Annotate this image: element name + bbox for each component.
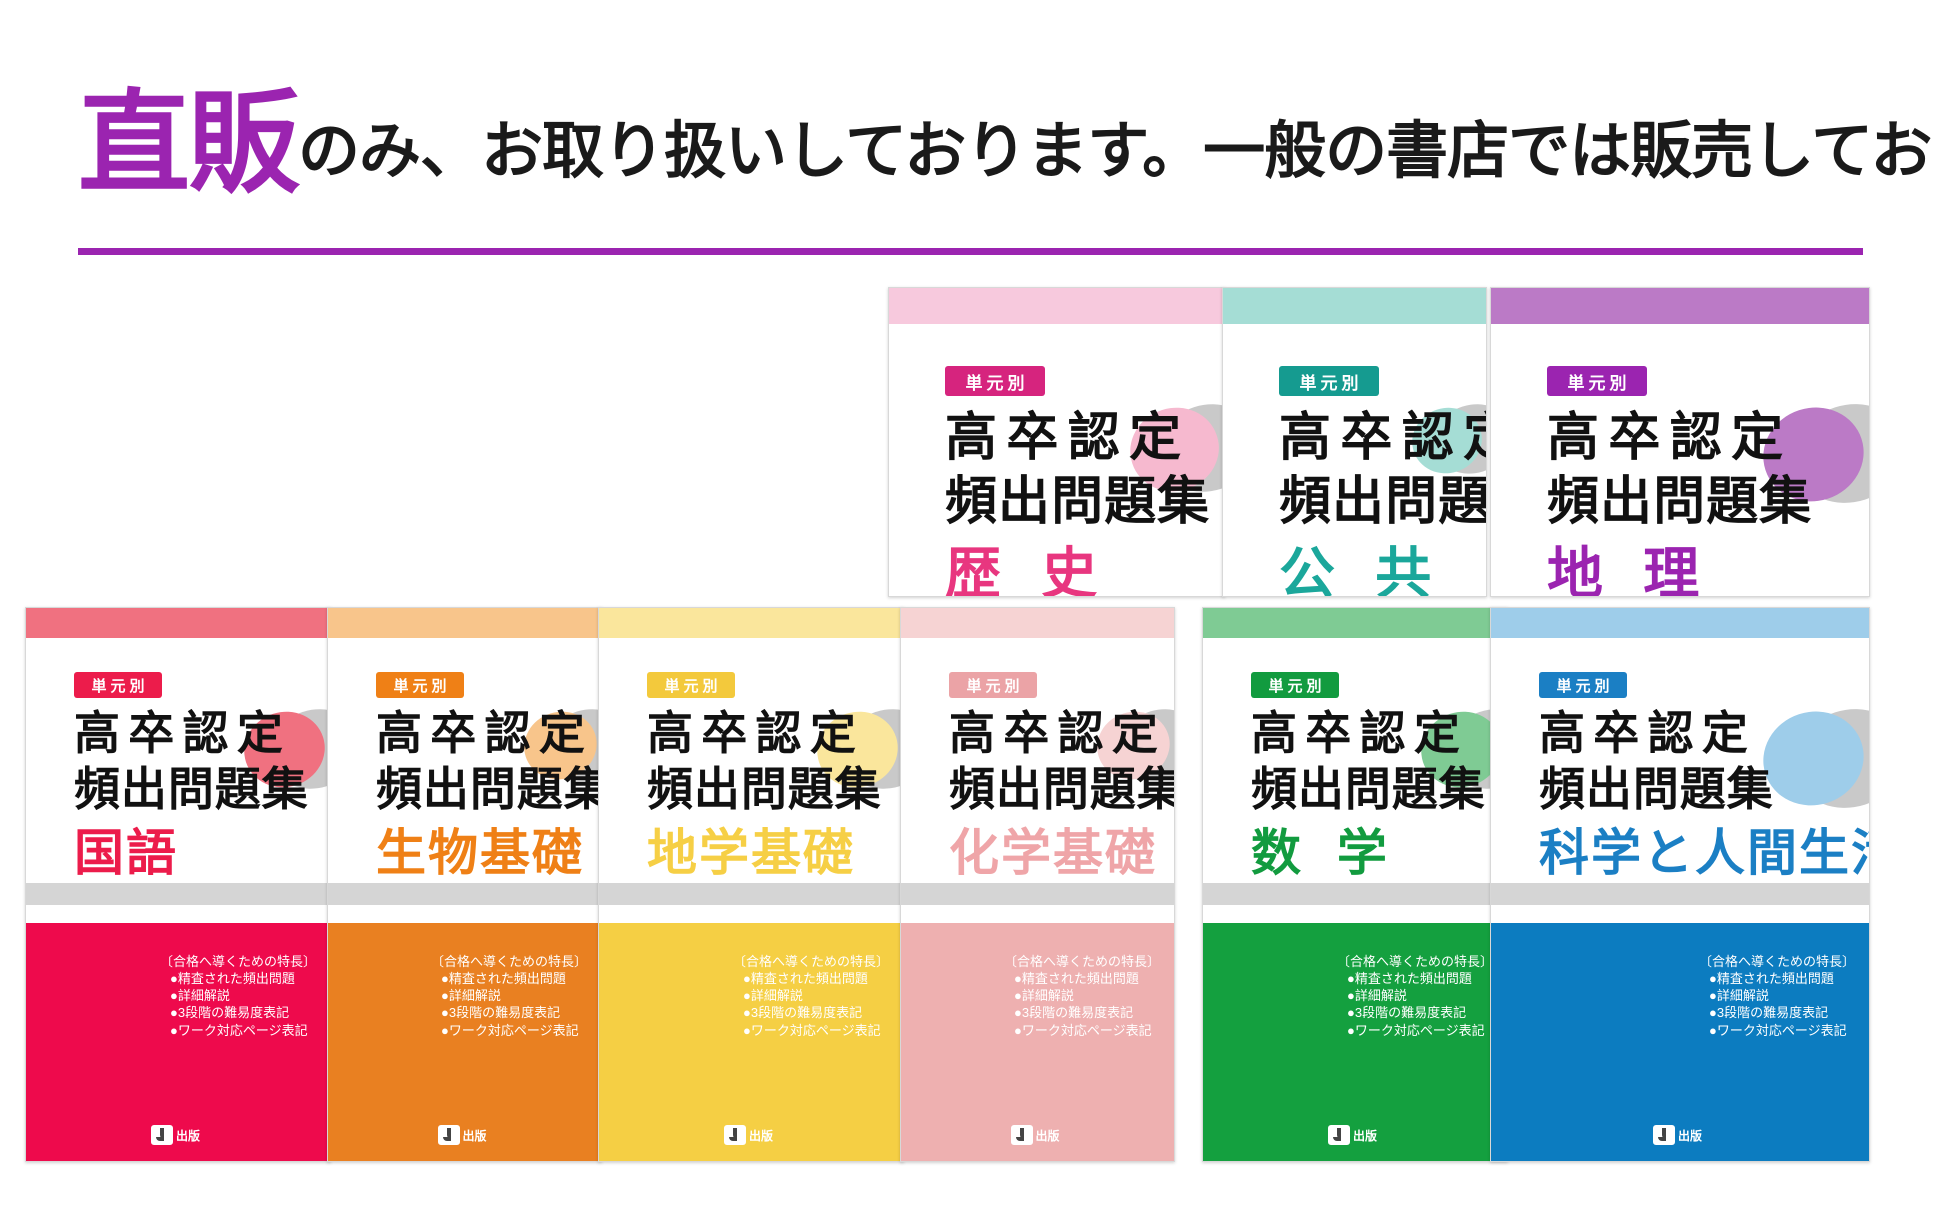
feature-item: ●精査された頻出問題 (170, 970, 316, 987)
book-title-line1: 高卒認定 (949, 710, 1166, 756)
feature-item: ●詳細解説 (1709, 987, 1855, 1004)
book-back-cover: 〔合格へ導くための特長〕●精査された頻出問題●詳細解説●3段階の難易度表記●ワー… (901, 923, 1174, 1162)
j-publishing-mark-icon (1328, 1125, 1350, 1145)
unit-type-badge: 単元別 (949, 672, 1037, 698)
publisher-logo: 出版 (151, 1125, 200, 1145)
publisher-logo-text: 出版 (463, 1127, 487, 1144)
feature-item: ●3段階の難易度表記 (1709, 1004, 1855, 1021)
book-title-line1: 高卒認定 (1251, 710, 1468, 756)
cover-face: 単元別高卒認定頻出問題集国語編/高卒認定受験情報センター・J-出版編集部 (26, 638, 330, 883)
unit-type-badge: 単元別 (1539, 672, 1627, 698)
cover-face: 単元別高卒認定頻出問題集化学基礎編/高卒認定受験情報センター・J-出版編集部 (901, 638, 1174, 883)
feature-list-heading: 〔合格へ導くための特長〕 (1337, 953, 1493, 970)
feature-list: 〔合格へ導くための特長〕●精査された頻出問題●詳細解説●3段階の難易度表記●ワー… (1004, 953, 1160, 1039)
publisher-logo: 出版 (438, 1125, 487, 1145)
cover-face: 単元別高卒認定頻出問題集地 理編/高卒認定受験情報センター・J-出版編集部 (1491, 324, 1869, 597)
feature-item: ●ワーク対応ページ表記 (1347, 1022, 1493, 1039)
book-subject-title: 地学基礎 (647, 828, 855, 878)
feature-list-heading: 〔合格へ導くための特長〕 (160, 953, 316, 970)
feature-item: ●3段階の難易度表記 (743, 1004, 889, 1021)
book-title-line2: 頻出問題集 (647, 766, 882, 812)
feature-item: ●精査された頻出問題 (1709, 970, 1855, 987)
book-cover-bottom-5[interactable]: 単元別高卒認定頻出問題集数 学編/高卒認定受験情報センター・J-出版編集部〔合格… (1202, 607, 1508, 1162)
book-cover-top-1[interactable]: 単元別高卒認定頻出問題集歴 史編/高卒認定受験情報センター・J-出版編集部 (888, 287, 1225, 597)
feature-item: ●精査された頻出問題 (1014, 970, 1160, 987)
feature-item: ●3段階の難易度表記 (441, 1004, 587, 1021)
j-publishing-mark-icon (438, 1125, 460, 1145)
feature-item: ●3段階の難易度表記 (1347, 1004, 1493, 1021)
book-title-line2: 頻出問題集 (376, 766, 601, 812)
book-title-line1: 高卒認定 (647, 710, 864, 756)
book-cover-top-3[interactable]: 単元別高卒認定頻出問題集地 理編/高卒認定受験情報センター・J-出版編集部 (1490, 287, 1870, 597)
spine-gap (599, 905, 903, 923)
unit-type-badge: 単元別 (1279, 366, 1379, 396)
feature-list: 〔合格へ導くための特長〕●精査された頻出問題●詳細解説●3段階の難易度表記●ワー… (431, 953, 587, 1039)
j-publishing-mark-icon (1011, 1125, 1033, 1145)
spine-gap (1203, 905, 1507, 923)
publisher-logo: 出版 (724, 1125, 773, 1145)
cover-face: 単元別高卒認定頻出問題集数 学編/高卒認定受験情報センター・J-出版編集部 (1203, 638, 1507, 883)
feature-list: 〔合格へ導くための特長〕●精査された頻出問題●詳細解説●3段階の難易度表記●ワー… (1699, 953, 1855, 1039)
feature-item: ●ワーク対応ページ表記 (170, 1022, 316, 1039)
spine-strip (328, 883, 601, 905)
feature-item: ●精査された頻出問題 (1347, 970, 1493, 987)
feature-item: ●詳細解説 (1014, 987, 1160, 1004)
publisher-logo-text: 出版 (1678, 1127, 1702, 1144)
feature-item: ●3段階の難易度表記 (1014, 1004, 1160, 1021)
book-back-cover: 〔合格へ導くための特長〕●精査された頻出問題●詳細解説●3段階の難易度表記●ワー… (1203, 923, 1507, 1162)
cover-top-band (1223, 288, 1486, 324)
feature-item: ●詳細解説 (170, 987, 316, 1004)
book-title-line2: 頻出問題集 (949, 766, 1174, 812)
book-subject-title: 生物基礎 (376, 828, 584, 878)
cover-face: 単元別高卒認定頻出問題集生物基礎編/高卒認定受験情報センター・J-出版編集部 (328, 638, 601, 883)
book-title-line1: 高卒認定 (945, 412, 1190, 464)
cover-face: 単元別高卒認定頻出問題集公 共編/高卒認定受験情報センター・J-出版編集部 (1223, 324, 1486, 597)
book-subject-title: 国語 (74, 828, 178, 878)
cover-top-band (599, 608, 903, 638)
j-publishing-mark-icon (1653, 1125, 1675, 1145)
unit-type-badge: 単元別 (945, 366, 1045, 396)
cover-top-band (328, 608, 601, 638)
book-cover-bottom-4[interactable]: 単元別高卒認定頻出問題集化学基礎編/高卒認定受験情報センター・J-出版編集部〔合… (900, 607, 1175, 1162)
unit-type-badge: 単元別 (376, 672, 464, 698)
feature-list: 〔合格へ導くための特長〕●精査された頻出問題●詳細解説●3段階の難易度表記●ワー… (160, 953, 316, 1039)
book-subject-title: 化学基礎 (949, 828, 1157, 878)
book-cover-bottom-1[interactable]: 単元別高卒認定頻出問題集国語編/高卒認定受験情報センター・J-出版編集部〔合格へ… (25, 607, 331, 1162)
book-cover-top-2[interactable]: 単元別高卒認定頻出問題集公 共編/高卒認定受験情報センター・J-出版編集部 (1222, 287, 1487, 597)
cover-top-band (889, 288, 1224, 324)
book-title-line1: 高卒認定 (74, 710, 291, 756)
book-title-line2: 頻出問題集 (945, 476, 1210, 528)
feature-item: ●詳細解説 (743, 987, 889, 1004)
book-title-line2: 頻出問題集 (1279, 476, 1486, 528)
spine-strip (1491, 883, 1869, 905)
book-subject-title: 数 学 (1251, 828, 1398, 878)
book-cover-bottom-2[interactable]: 単元別高卒認定頻出問題集生物基礎編/高卒認定受験情報センター・J-出版編集部〔合… (327, 607, 602, 1162)
spine-gap (328, 905, 601, 923)
unit-type-badge: 単元別 (74, 672, 162, 698)
publisher-logo: 出版 (1653, 1125, 1702, 1145)
spine-strip (26, 883, 330, 905)
feature-list-heading: 〔合格へ導くための特長〕 (431, 953, 587, 970)
book-subject-title: 公 共 (1279, 546, 1444, 597)
spine-strip (901, 883, 1174, 905)
publisher-logo: 出版 (1011, 1125, 1060, 1145)
spine-gap (1491, 905, 1869, 923)
book-title-line1: 高卒認定 (376, 710, 593, 756)
book-title-line2: 頻出問題集 (1547, 476, 1812, 528)
unit-type-badge: 単元別 (1251, 672, 1339, 698)
cover-top-band (26, 608, 330, 638)
spine-gap (26, 905, 330, 923)
feature-item: ●ワーク対応ページ表記 (743, 1022, 889, 1039)
feature-item: ●ワーク対応ページ表記 (1709, 1022, 1855, 1039)
spine-gap (901, 905, 1174, 923)
j-publishing-mark-icon (151, 1125, 173, 1145)
cover-top-band (901, 608, 1174, 638)
spine-strip (1203, 883, 1507, 905)
book-cover-bottom-3[interactable]: 単元別高卒認定頻出問題集地学基礎編/高卒認定受験情報センター・J-出版編集部〔合… (598, 607, 904, 1162)
cover-face: 単元別高卒認定頻出問題集地学基礎編/高卒認定受験情報センター・J-出版編集部 (599, 638, 903, 883)
publisher-logo-text: 出版 (176, 1127, 200, 1144)
feature-item: ●詳細解説 (441, 987, 587, 1004)
book-title-line2: 頻出問題集 (1251, 766, 1486, 812)
cover-face: 単元別高卒認定頻出問題集歴 史編/高卒認定受験情報センター・J-出版編集部 (889, 324, 1224, 597)
book-subject-title: 歴 史 (945, 546, 1110, 597)
feature-list-heading: 〔合格へ導くための特長〕 (1004, 953, 1160, 970)
book-title-line2: 頻出問題集 (1539, 766, 1774, 812)
feature-item: ●ワーク対応ページ表記 (441, 1022, 587, 1039)
cover-top-band (1491, 608, 1869, 638)
cover-top-band (1203, 608, 1507, 638)
book-title-line1: 高卒認定 (1279, 412, 1486, 464)
book-cover-bottom-6[interactable]: 単元別高卒認定頻出問題集科学と人間生活編/高卒認定受験情報センター・J-出版編集… (1490, 607, 1870, 1162)
cover-face: 単元別高卒認定頻出問題集科学と人間生活編/高卒認定受験情報センター・J-出版編集… (1491, 638, 1869, 883)
publisher-logo-text: 出版 (1036, 1127, 1060, 1144)
feature-item: ●精査された頻出問題 (743, 970, 889, 987)
feature-list-heading: 〔合格へ導くための特長〕 (1699, 953, 1855, 970)
spine-strip (599, 883, 903, 905)
book-subject-title: 地 理 (1547, 546, 1712, 597)
book-subject-title: 科学と人間生活 (1539, 828, 1869, 878)
unit-type-badge: 単元別 (647, 672, 735, 698)
publisher-logo-text: 出版 (749, 1127, 773, 1144)
book-back-cover: 〔合格へ導くための特長〕●精査された頻出問題●詳細解説●3段階の難易度表記●ワー… (328, 923, 601, 1162)
book-lineup: 単元別高卒認定頻出問題集歴 史編/高卒認定受験情報センター・J-出版編集部単元別… (0, 0, 1933, 1212)
cover-top-band (1491, 288, 1869, 324)
feature-list-heading: 〔合格へ導くための特長〕 (733, 953, 889, 970)
publisher-logo-text: 出版 (1353, 1127, 1377, 1144)
book-back-cover: 〔合格へ導くための特長〕●精査された頻出問題●詳細解説●3段階の難易度表記●ワー… (599, 923, 903, 1162)
book-title-line2: 頻出問題集 (74, 766, 309, 812)
feature-item: ●3段階の難易度表記 (170, 1004, 316, 1021)
j-publishing-mark-icon (724, 1125, 746, 1145)
book-back-cover: 〔合格へ導くための特長〕●精査された頻出問題●詳細解説●3段階の難易度表記●ワー… (26, 923, 330, 1162)
feature-item: ●詳細解説 (1347, 987, 1493, 1004)
feature-item: ●精査された頻出問題 (441, 970, 587, 987)
book-back-cover: 〔合格へ導くための特長〕●精査された頻出問題●詳細解説●3段階の難易度表記●ワー… (1491, 923, 1869, 1162)
book-title-line1: 高卒認定 (1539, 710, 1756, 756)
publisher-logo: 出版 (1328, 1125, 1377, 1145)
unit-type-badge: 単元別 (1547, 366, 1647, 396)
book-title-line1: 高卒認定 (1547, 412, 1792, 464)
feature-list: 〔合格へ導くための特長〕●精査された頻出問題●詳細解説●3段階の難易度表記●ワー… (1337, 953, 1493, 1039)
feature-item: ●ワーク対応ページ表記 (1014, 1022, 1160, 1039)
feature-list: 〔合格へ導くための特長〕●精査された頻出問題●詳細解説●3段階の難易度表記●ワー… (733, 953, 889, 1039)
